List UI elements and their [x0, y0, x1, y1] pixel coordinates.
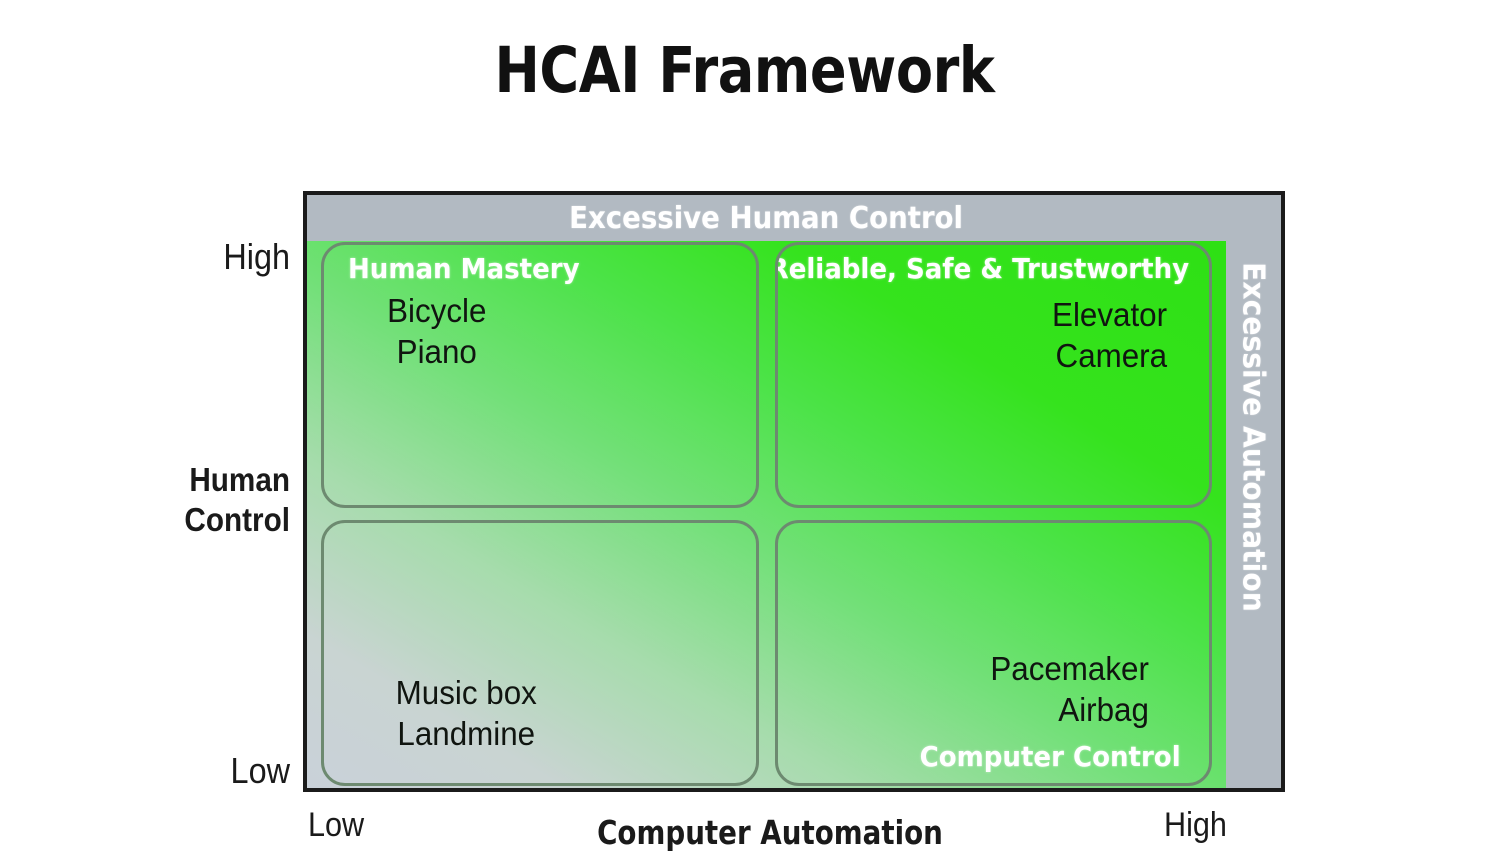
quadrant-header: Human Mastery	[348, 253, 710, 285]
quadrant-grid: Human Mastery Bicycle Piano Reliable, Sa…	[321, 242, 1212, 786]
excessive-human-control-band: Excessive Human Control	[307, 195, 1281, 241]
page-title: HCAI Framework	[104, 34, 1385, 107]
hcai-matrix-frame: Excessive Human Control Excessive Automa…	[303, 191, 1285, 792]
quadrant-music-box-landmine[interactable]: Music box Landmine	[321, 520, 759, 786]
quadrant-items: Music box Landmine	[376, 673, 557, 755]
x-axis-high-label: High	[1164, 806, 1227, 845]
y-axis-low-label: Low	[209, 750, 290, 792]
excessive-automation-label: Excessive Automation	[1236, 262, 1271, 612]
quadrant-human-mastery[interactable]: Human Mastery Bicycle Piano	[321, 242, 759, 508]
y-axis-high-label: High	[209, 236, 290, 278]
quadrant-footer: Computer Control	[920, 741, 1181, 773]
x-axis-low-label: Low	[308, 806, 364, 845]
quadrant-items: Elevator Camera	[1052, 295, 1167, 377]
x-axis-title: Computer Automation	[560, 813, 980, 852]
y-axis-title: Human Control	[137, 460, 290, 541]
plot-area: Human Mastery Bicycle Piano Reliable, Sa…	[307, 241, 1226, 788]
quadrant-computer-control[interactable]: Pacemaker Airbag Computer Control	[775, 520, 1213, 786]
excessive-automation-band: Excessive Automation	[1225, 241, 1281, 788]
excessive-human-control-label: Excessive Human Control	[569, 201, 963, 236]
quadrant-items: Bicycle Piano	[356, 291, 518, 373]
quadrant-reliable-safe-trustworthy[interactable]: Reliable, Safe & Trustworthy Elevator Ca…	[775, 242, 1213, 508]
quadrant-items: Pacemaker Airbag	[990, 649, 1149, 731]
quadrant-header: Reliable, Safe & Trustworthy	[775, 253, 1190, 285]
